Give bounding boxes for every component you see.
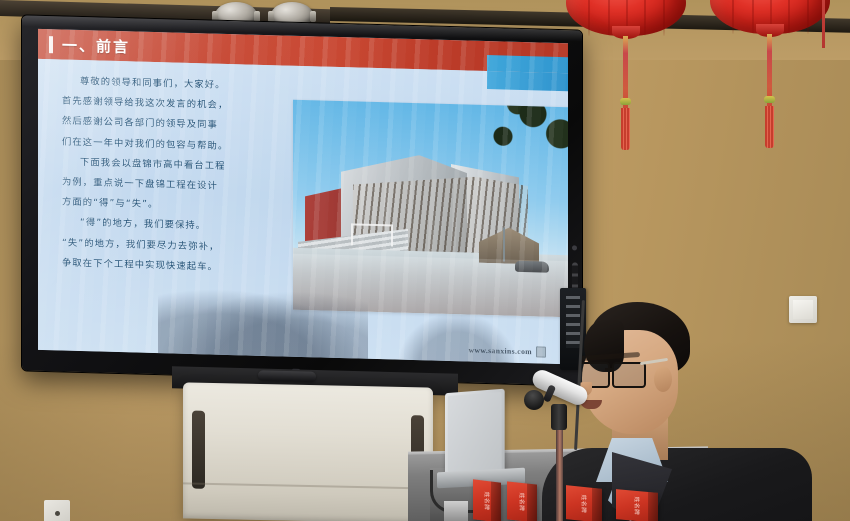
name-card-text: 姓名牌 xyxy=(518,492,526,511)
name-card-fold xyxy=(527,484,537,521)
lamp-pole xyxy=(503,227,505,261)
glasses-right-lens xyxy=(612,362,646,388)
white-podium-cabinet xyxy=(183,382,433,521)
podium-seam xyxy=(183,482,433,489)
lantern-string-right-edge xyxy=(822,0,825,48)
presentation-slide: 一、前言 尊敬的领导和同事们，大家好。 首先感谢领导给我这次发言的机会， 然后感… xyxy=(38,29,568,364)
seated-male-presenter xyxy=(560,300,850,521)
glasses-bridge xyxy=(605,368,614,371)
name-card-text: 姓名牌 xyxy=(483,491,491,511)
slide-body-text: 尊敬的领导和同事们，大家好。 首先感谢领导给我这次发言的机会， 然后感谢公司各部… xyxy=(62,72,276,280)
tv-remote-control[interactable] xyxy=(258,370,316,381)
ground-reflection xyxy=(293,254,568,318)
podium-vent-left xyxy=(192,411,205,489)
wall-mounted-display[interactable]: 一、前言 尊敬的领导和同事们，大家好。 首先感谢领导给我这次发言的机会， 然后感… xyxy=(22,15,582,385)
table-name-card: 姓名牌 xyxy=(566,485,602,521)
laptop-screen xyxy=(448,392,502,472)
slide-blue-accent-strip xyxy=(487,71,568,91)
ir-receiver-icon xyxy=(572,245,577,250)
name-card-text: 姓名牌 xyxy=(580,494,588,513)
soccer-goal xyxy=(351,223,393,246)
slide-title: 一、前言 xyxy=(62,34,130,57)
name-card-holder xyxy=(444,501,468,521)
name-card-text: 姓名牌 xyxy=(633,496,641,515)
name-card-fold xyxy=(491,481,501,521)
presentation-room-photo: 一、前言 尊敬的领导和同事们，大家好。 首先感谢领导给我这次发言的机会， 然后感… xyxy=(0,0,850,521)
architectural-rendering-image xyxy=(293,100,568,318)
table-name-card: 姓名牌 xyxy=(507,481,537,521)
ear xyxy=(654,366,672,392)
microphone-stand-pole xyxy=(556,418,563,521)
table-name-card: 姓名牌 xyxy=(473,479,501,521)
table-name-card: 姓名牌 xyxy=(616,489,658,521)
slide-watermark: www.sanxins.com xyxy=(469,345,546,358)
watermark-text: www.sanxins.com xyxy=(469,346,532,357)
laptop-lid[interactable] xyxy=(445,389,505,475)
tree-foliage xyxy=(467,100,568,170)
slide-body: 尊敬的领导和同事们，大家好。 首先感谢领导给我这次发言的机会， 然后感谢公司各部… xyxy=(38,59,568,364)
title-accent-bar xyxy=(49,36,53,53)
wall-outlet-plate xyxy=(44,500,70,521)
name-card-fold xyxy=(592,488,602,521)
outlet-hole xyxy=(55,511,60,516)
name-card-fold xyxy=(648,492,658,521)
watermark-logo-icon xyxy=(536,346,546,357)
microphone-clamp[interactable] xyxy=(551,404,567,430)
